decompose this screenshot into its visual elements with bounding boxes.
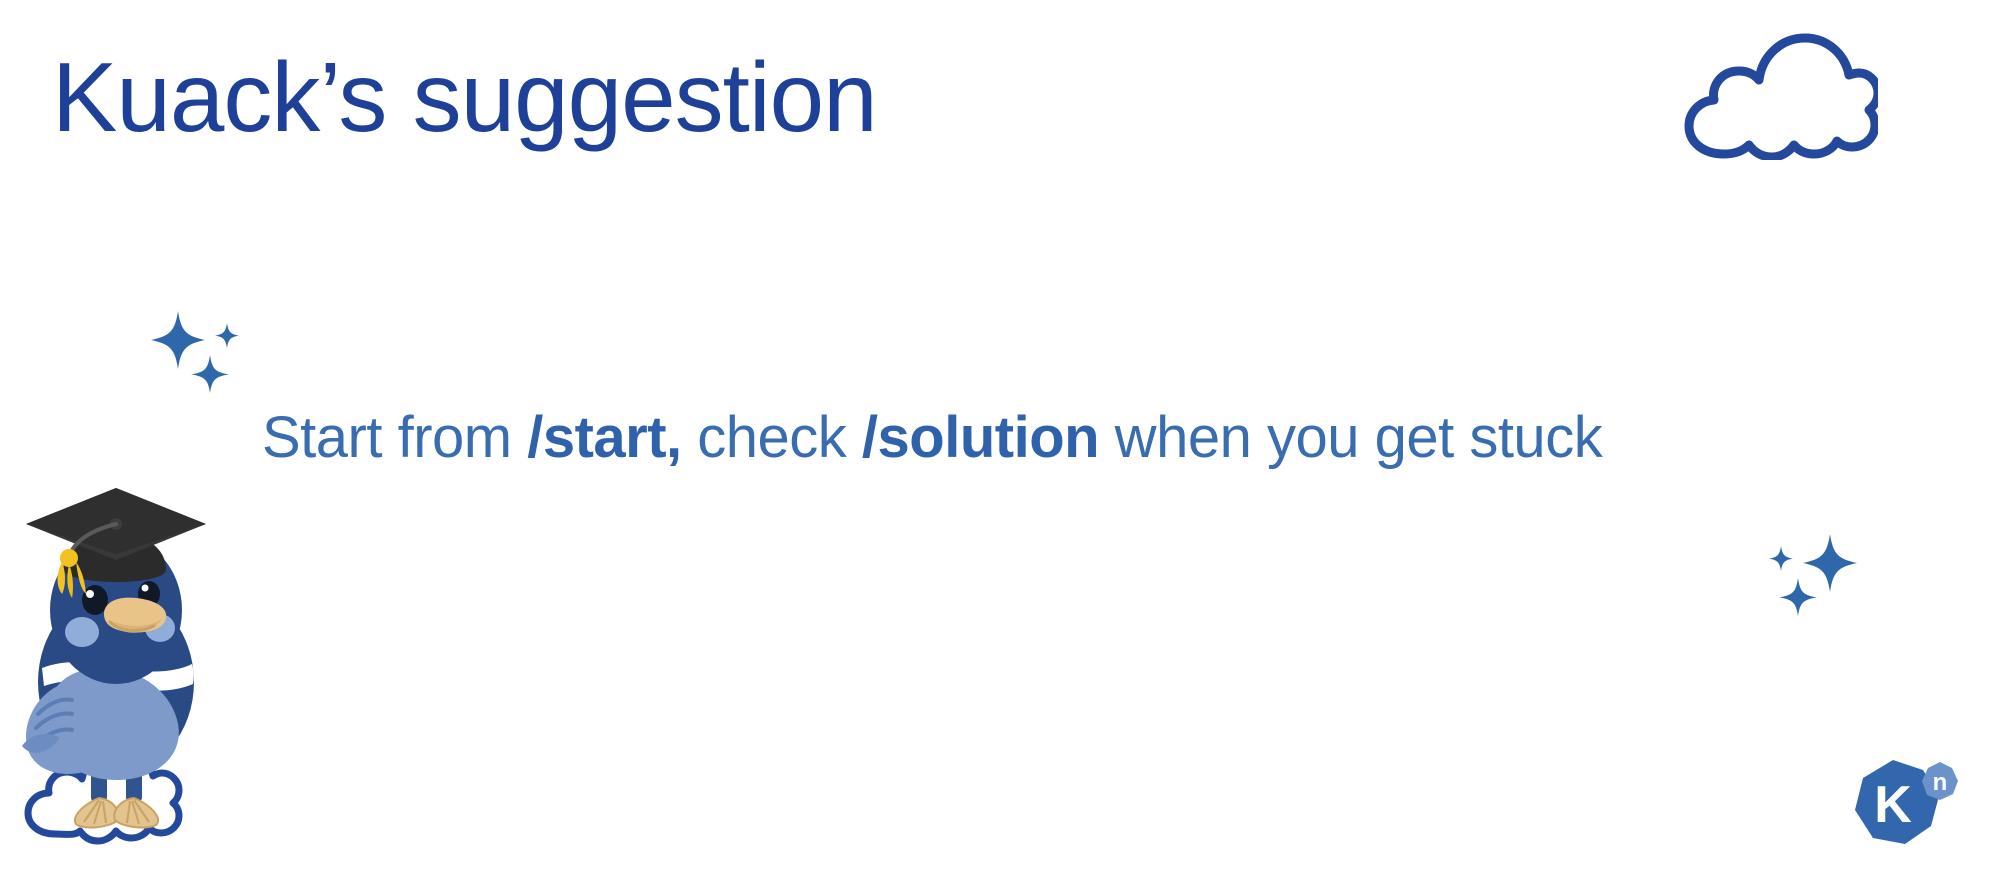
mascot-kuack-duck [8,462,230,862]
body-comma: , [666,405,682,470]
page-title: Kuack’s suggestion [52,48,877,146]
brand-logo: K n [1845,752,1963,852]
logo-letter-k: K [1874,776,1912,834]
sparkle-cluster-left-icon [148,305,248,395]
command-solution: /solution [862,405,1099,470]
body-text-part-1: Start from [262,405,527,470]
body-text: Start from /start, check /solution when … [262,408,1602,469]
body-text-part-2: check [682,405,862,470]
cloud-outline-icon [1663,30,1878,160]
slide-canvas: Kuack’s suggestion Start from /start, ch… [0,0,1999,878]
body-text-part-3: when you get stuck [1099,405,1602,470]
sparkle-cluster-right-icon [1760,528,1860,618]
logo-letter-n: n [1933,769,1948,796]
command-start: /start [527,405,666,470]
